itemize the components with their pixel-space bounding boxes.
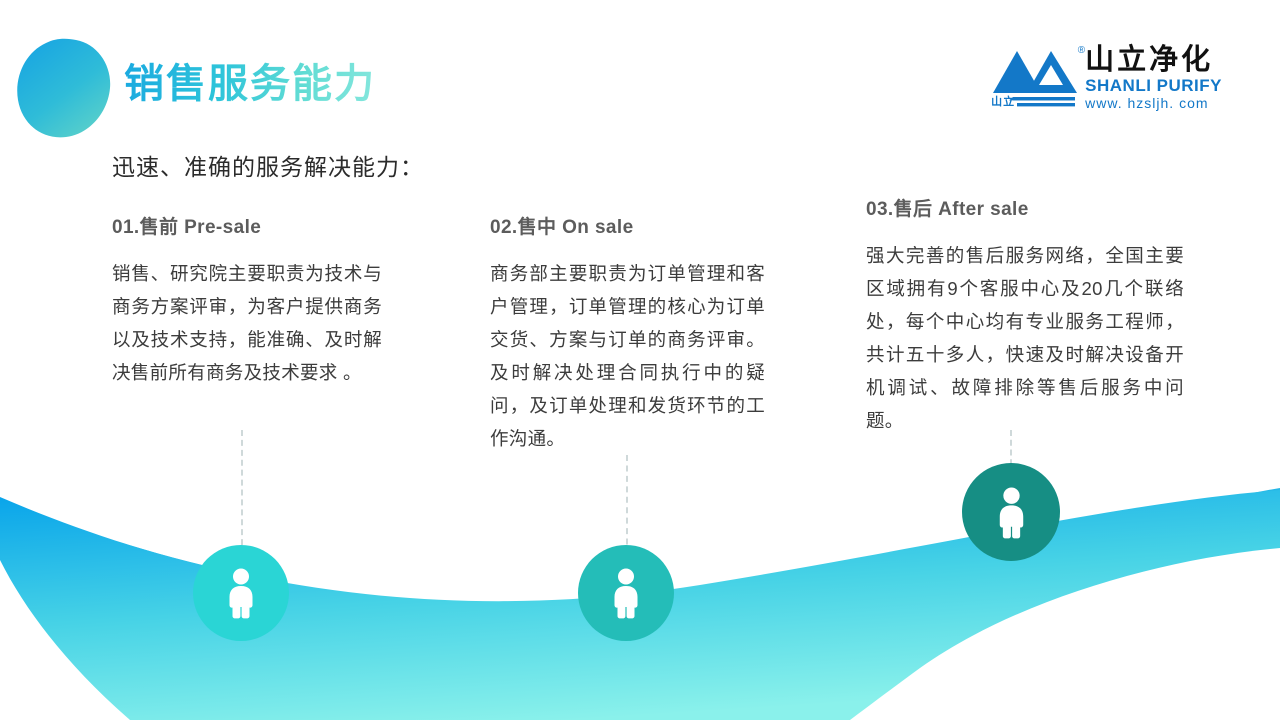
- column-heading: 01.售前 Pre-sale: [112, 212, 382, 239]
- logo-name-cn: 山立净化: [1085, 45, 1222, 76]
- decorative-blob-icon: [16, 38, 112, 138]
- company-logo: ® 山立 山立净化 SHANLI PURIFY www. hzsljh. com: [991, 45, 1222, 112]
- node-circle-pre-sale[interactable]: [193, 545, 289, 641]
- connector-line-pre-sale: [241, 430, 243, 555]
- column-body-text: 商务部主要职责为订单管理和客户管理，订单管理的核心为订单交货、方案与订单的商务评…: [490, 257, 765, 455]
- logo-mountain-icon: ® 山立: [991, 45, 1079, 111]
- logo-text-block: 山立净化 SHANLI PURIFY www. hzsljh. com: [1085, 45, 1222, 112]
- person-icon: [223, 567, 259, 619]
- section-subtitle: 迅速、准确的服务解决能力：: [112, 148, 424, 182]
- content-column-on-sale: 02.售中 On sale 商务部主要职责为订单管理和客户管理，订单管理的核心为…: [490, 212, 765, 455]
- page-title: 销售服务能力: [124, 57, 376, 111]
- column-body-text: 销售、研究院主要职责为技术与商务方案评审，为客户提供商务以及技术支持，能准确、及…: [112, 257, 382, 389]
- connector-line-on-sale: [626, 455, 628, 555]
- content-column-pre-sale: 01.售前 Pre-sale 销售、研究院主要职责为技术与商务方案评审，为客户提…: [112, 212, 382, 389]
- person-icon: [608, 567, 644, 619]
- person-icon: [993, 486, 1030, 539]
- content-column-after-sale: 03.售后 After sale 强大完善的售后服务网络，全国主要区域拥有9个客…: [866, 194, 1184, 437]
- column-heading: 03.售后 After sale: [866, 194, 1184, 221]
- column-heading: 02.售中 On sale: [490, 212, 765, 239]
- column-body-text: 强大完善的售后服务网络，全国主要区域拥有9个客服中心及20几个联络处，每个中心均…: [866, 239, 1184, 437]
- logo-website: www. hzsljh. com: [1085, 95, 1222, 112]
- logo-mark-caption: 山立: [991, 93, 1015, 109]
- node-circle-after-sale[interactable]: [962, 463, 1060, 561]
- logo-name-en: SHANLI PURIFY: [1085, 76, 1222, 95]
- registered-trademark-icon: ®: [1078, 45, 1085, 56]
- node-circle-on-sale[interactable]: [578, 545, 674, 641]
- slide-canvas: 销售服务能力 ® 山立 山立净化 SHANLI PURIFY www. hzsl…: [0, 0, 1280, 720]
